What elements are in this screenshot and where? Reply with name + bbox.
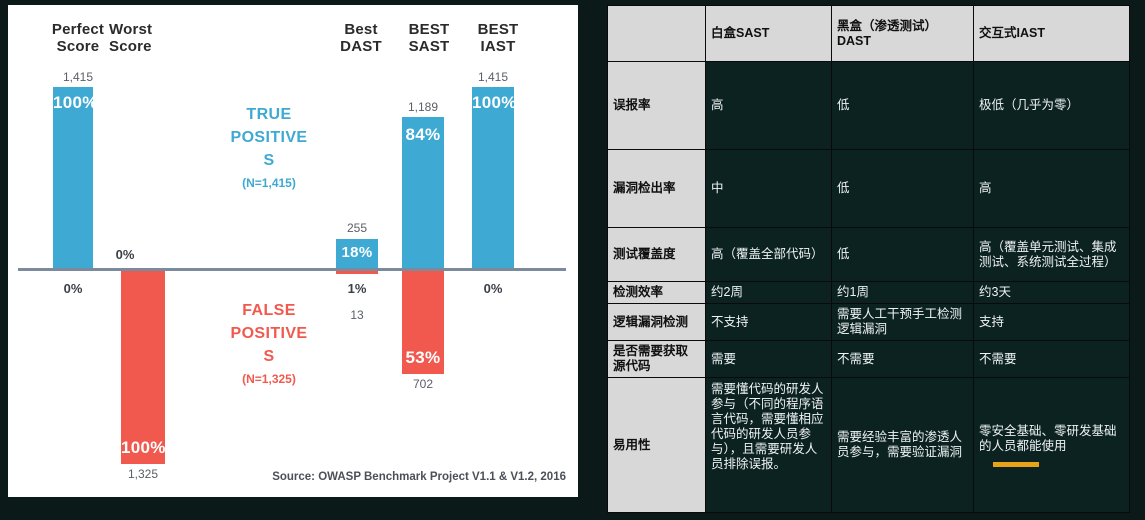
cell-dast: 需要经验丰富的渗透人员参与，需要验证漏洞	[832, 378, 974, 513]
cell-dast: 低	[832, 150, 974, 228]
comparison-table-panel: 白盒SAST 黑盒（渗透测试） DAST 交互式IAST 误报率 高 低 极低（…	[607, 5, 1129, 505]
cell-sast: 高（覆盖全部代码）	[706, 228, 832, 282]
bar-top-count-best-iast: 1,415	[456, 70, 530, 84]
bar-label-percent: 100%	[121, 438, 165, 458]
row-label-detection-rate: 漏洞检出率	[608, 150, 706, 228]
bar-bottom-percent-best-dast: 1%	[320, 281, 394, 296]
cell-sast: 高	[706, 62, 832, 150]
cell-dast: 需要人工干预手工检测逻辑漏洞	[832, 304, 974, 341]
cell-iast: 极低（几乎为零）	[974, 62, 1130, 150]
chart-axis-baseline	[18, 268, 566, 271]
table-row: 测试覆盖度 高（覆盖全部代码） 低 高（覆盖单元测试、集成测试、系统测试全过程）	[608, 228, 1130, 282]
cell-sast: 需要	[706, 341, 832, 378]
row-label-needs-source-code: 是否需要获取源代码	[608, 341, 706, 378]
cell-iast: 约3天	[974, 282, 1130, 304]
cell-dast: 约1周	[832, 282, 974, 304]
annotation-line-2: POSITIVE	[206, 322, 332, 345]
column-header-dast-line1: 黑盒（渗透测试）	[837, 19, 968, 34]
annotation-line-1: FALSE	[206, 299, 332, 322]
column-header-sast: 白盒SAST	[706, 6, 832, 62]
table-row: 易用性 需要懂代码的研发人参与（不同的程序语言代码，需要懂相应代码的研发人员参与…	[608, 378, 1130, 513]
bar-bottom-count-worst-score: 1,325	[106, 467, 180, 481]
table-row: 是否需要获取源代码 需要 不需要 不需要	[608, 341, 1130, 378]
bar-label-percent: 18%	[336, 244, 378, 261]
table-row: 漏洞检出率 中 低 高	[608, 150, 1130, 228]
annotation-true-positives: TRUE POSITIVE S (N=1,415)	[206, 103, 332, 195]
table-row: 误报率 高 低 极低（几乎为零）	[608, 62, 1130, 150]
row-label-ease-of-use: 易用性	[608, 378, 706, 513]
cell-iast-text: 零安全基础、零研发基础的人员都能使用	[979, 424, 1117, 453]
highlight-underline-marker	[993, 462, 1039, 467]
header-line2: IAST	[453, 38, 543, 55]
table-corner-cell	[608, 6, 706, 62]
bar-label-percent: 53%	[402, 348, 444, 368]
bar-bottom-percent-best-iast: 0%	[456, 281, 530, 296]
bar-top-count-best-sast: 1,189	[386, 100, 460, 114]
slide-root: Perfect Score Worst Score Best DAST BEST…	[0, 0, 1145, 520]
row-label-false-positive-rate: 误报率	[608, 62, 706, 150]
row-label-logic-flaw-detection: 逻辑漏洞检测	[608, 304, 706, 341]
cell-dast: 低	[832, 62, 974, 150]
cell-iast: 高	[974, 150, 1130, 228]
comparison-table: 白盒SAST 黑盒（渗透测试） DAST 交互式IAST 误报率 高 低 极低（…	[607, 5, 1130, 513]
bar-true-positive-perfect-score: 100%	[53, 87, 93, 268]
annotation-line-3: S	[206, 149, 332, 172]
annotation-line-2: POSITIVE	[206, 126, 332, 149]
bar-false-positive-best-sast: 53%	[402, 271, 444, 374]
bar-top-count-perfect-score: 1,415	[36, 70, 120, 84]
cell-iast: 零安全基础、零研发基础的人员都能使用	[974, 378, 1130, 513]
cell-sast: 约2周	[706, 282, 832, 304]
bar-false-positive-worst-score: 100%	[121, 271, 165, 464]
bar-true-positive-best-dast: 18%	[336, 239, 378, 268]
owasp-benchmark-chart: Perfect Score Worst Score Best DAST BEST…	[8, 5, 578, 497]
bar-true-positive-best-iast: 100%	[472, 87, 514, 268]
bar-top-percent-worst-score: 0%	[88, 247, 162, 262]
column-header-iast: 交互式IAST	[974, 6, 1130, 62]
bar-label-percent: 100%	[53, 93, 93, 113]
cell-iast: 高（覆盖单元测试、集成测试、系统测试全过程）	[974, 228, 1130, 282]
header-line2: Score	[101, 38, 201, 55]
cell-iast: 支持	[974, 304, 1130, 341]
row-label-detection-efficiency: 检测效率	[608, 282, 706, 304]
header-line1: BEST	[453, 21, 543, 38]
cell-iast: 不需要	[974, 341, 1130, 378]
cell-sast: 不支持	[706, 304, 832, 341]
annotation-n: (N=1,325)	[206, 368, 332, 391]
bar-false-positive-best-dast	[336, 271, 378, 274]
cell-dast: 不需要	[832, 341, 974, 378]
bar-label-percent: 84%	[402, 125, 444, 145]
table-row: 逻辑漏洞检测 不支持 需要人工干预手工检测逻辑漏洞 支持	[608, 304, 1130, 341]
table-row: 检测效率 约2周 约1周 约3天	[608, 282, 1130, 304]
bar-bottom-percent-perfect-score: 0%	[36, 281, 110, 296]
chart-column-header-best-iast: BEST IAST	[453, 21, 543, 55]
chart-column-header-worst-score: Worst Score	[101, 21, 201, 55]
bar-top-count-best-dast: 255	[320, 221, 394, 235]
header-line1: Worst	[101, 21, 201, 38]
bar-label-percent: 100%	[472, 93, 514, 113]
table-header-row: 白盒SAST 黑盒（渗透测试） DAST 交互式IAST	[608, 6, 1130, 62]
annotation-false-positives: FALSE POSITIVE S (N=1,325)	[206, 299, 332, 391]
cell-sast: 需要懂代码的研发人参与（不同的程序语言代码，需要懂相应代码的研发人员参与），且需…	[706, 378, 832, 513]
annotation-n: (N=1,415)	[206, 172, 332, 195]
bar-bottom-count-best-dast: 13	[320, 308, 394, 322]
row-label-test-coverage: 测试覆盖度	[608, 228, 706, 282]
cell-dast: 低	[832, 228, 974, 282]
annotation-line-1: TRUE	[206, 103, 332, 126]
bar-bottom-count-best-sast: 702	[386, 377, 460, 391]
annotation-line-3: S	[206, 345, 332, 368]
column-header-dast: 黑盒（渗透测试） DAST	[832, 6, 974, 62]
bar-true-positive-best-sast: 84%	[402, 117, 444, 268]
cell-sast: 中	[706, 150, 832, 228]
chart-source-note: Source: OWASP Benchmark Project V1.1 & V…	[272, 471, 566, 483]
column-header-dast-line2: DAST	[837, 34, 968, 49]
